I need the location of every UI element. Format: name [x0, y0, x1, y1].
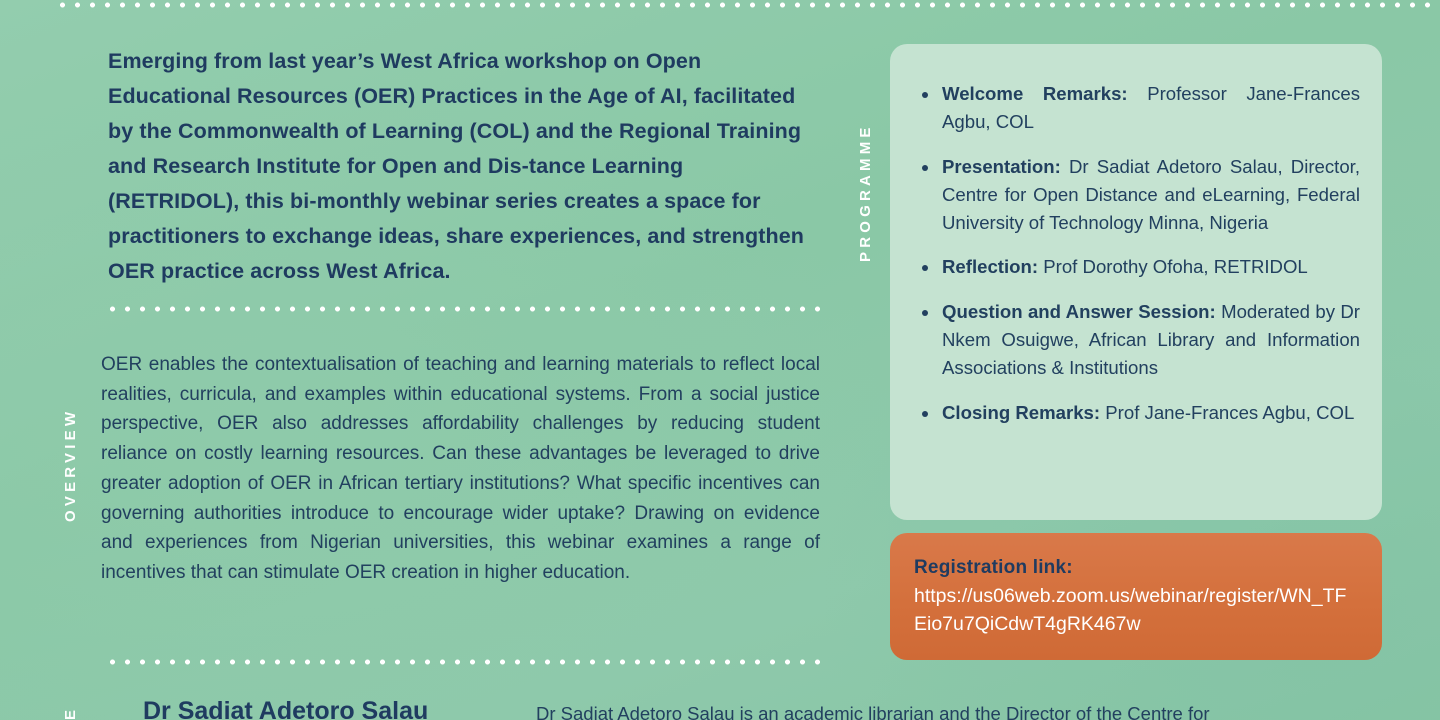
- left-column: Emerging from last year’s West Africa wo…: [0, 0, 840, 720]
- programme-item-label: Presentation:: [942, 156, 1061, 177]
- registration-link[interactable]: https://us06web.zoom.us/webinar/register…: [914, 582, 1358, 638]
- programme-card: Welcome Remarks: Professor Jane-Frances …: [890, 44, 1382, 520]
- programme-item: Question and Answer Session: Moderated b…: [914, 298, 1360, 383]
- programme-section-label: PROGRAMME: [857, 123, 874, 262]
- programme-item-label: Welcome Remarks:: [942, 83, 1128, 104]
- speaker-bio-paragraph: Dr Sadiat Adetoro Salau is an academic l…: [536, 700, 1396, 720]
- programme-item-label: Closing Remarks:: [942, 402, 1100, 423]
- intro-paragraph: Emerging from last year’s West Africa wo…: [108, 44, 820, 289]
- registration-title: Registration link:: [914, 555, 1358, 580]
- registration-box[interactable]: Registration link: https://us06web.zoom.…: [890, 533, 1382, 660]
- programme-item: Welcome Remarks: Professor Jane-Frances …: [914, 80, 1360, 137]
- programme-item-label: Question and Answer Session:: [942, 301, 1216, 322]
- programme-list: Welcome Remarks: Professor Jane-Frances …: [914, 80, 1360, 427]
- speaker-bio: Dr Sadiat Adetoro Salau is an academic l…: [536, 700, 1396, 720]
- programme-item: Presentation: Dr Sadiat Adetoro Salau, D…: [914, 153, 1360, 238]
- programme-item-detail: Prof Jane-Frances Agbu, COL: [1100, 402, 1354, 423]
- programme-item-detail: Prof Dorothy Ofoha, RETRIDOL: [1038, 256, 1308, 277]
- webinar-poster: Emerging from last year’s West Africa wo…: [0, 0, 1440, 720]
- programme-item: Closing Remarks: Prof Jane-Frances Agbu,…: [914, 399, 1360, 427]
- overview-body: OER enables the contextualisation of tea…: [101, 350, 820, 588]
- speaker-name: Dr Sadiat Adetoro Salau: [143, 696, 513, 720]
- programme-item: Reflection: Prof Dorothy Ofoha, RETRIDOL: [914, 253, 1360, 281]
- profile-section-label: E: [62, 706, 79, 720]
- overview-section-label: OVERVIEW: [62, 408, 79, 522]
- overview-paragraph: OER enables the contextualisation of tea…: [101, 350, 820, 588]
- programme-item-label: Reflection:: [942, 256, 1038, 277]
